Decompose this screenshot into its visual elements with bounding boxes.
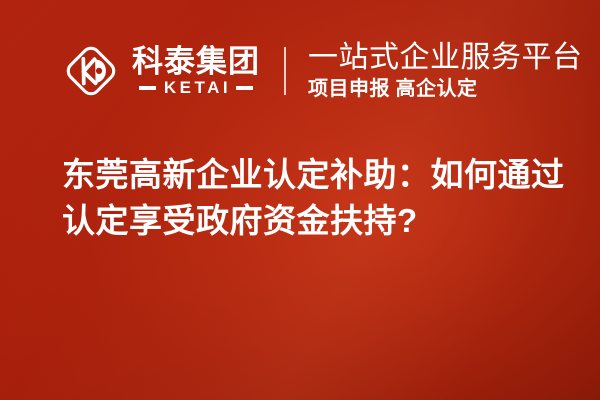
logo-dash-left-icon: [139, 86, 156, 90]
logo-latin-name: KETAI: [156, 79, 236, 97]
tagline-primary: 一站式企业服务平台: [308, 41, 583, 75]
logo-wordmark: 科泰集团 KETAI: [132, 45, 260, 97]
logo-latin-row: KETAI: [132, 79, 260, 97]
headline-line-2: 认定享受政府资金扶持?: [62, 198, 562, 244]
tagline-secondary: 项目申报 高企认定: [308, 77, 583, 101]
logo-chinese-name: 科泰集团: [132, 45, 260, 78]
promo-banner: 科泰集团 KETAI 一站式企业服务平台 项目申报 高企认定 东莞高新企业认定补…: [0, 0, 600, 400]
headline-line-1: 东莞高新企业认定补助：如何通过: [62, 152, 562, 198]
tagline-block: 一站式企业服务平台 项目申报 高企认定: [308, 41, 583, 101]
logo-dash-right-icon: [236, 86, 253, 90]
header-vertical-divider: [284, 47, 286, 95]
brand-header: 科泰集团 KETAI 一站式企业服务平台 项目申报 高企认定: [60, 36, 583, 106]
ketai-diamond-monogram-icon: [60, 40, 122, 102]
headline-block: 东莞高新企业认定补助：如何通过 认定享受政府资金扶持?: [62, 152, 562, 244]
